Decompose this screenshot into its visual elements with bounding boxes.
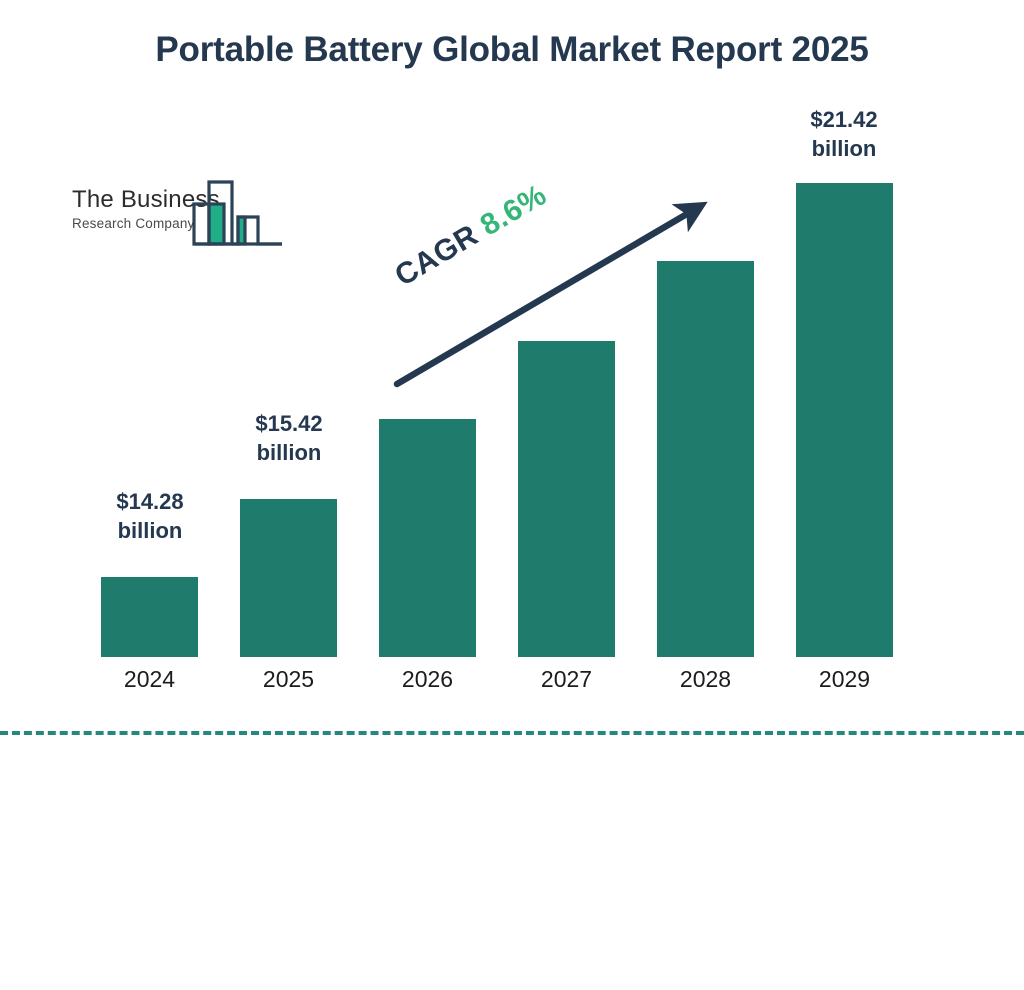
x-tick-label-2029: 2029 [796,668,893,691]
bar-value-label-2024: $14.28 billion [75,487,225,545]
bar-2024[interactable] [101,577,198,657]
x-tick-label-2026: 2026 [379,668,476,691]
bar-value-amount-2024: $14.28 [75,487,225,516]
bar-value-unit-2029: billion [769,134,919,163]
bottom-divider [0,731,1024,735]
bar-value-label-2025: $15.42 billion [214,409,364,467]
chart-canvas: Portable Battery Global Market Report 20… [0,0,1024,768]
bar-value-amount-2029: $21.42 [769,105,919,134]
bar-2026[interactable] [379,419,476,657]
bar-value-label-2029: $21.42 billion [769,105,919,163]
x-tick-label-2028: 2028 [657,668,754,691]
growth-trend-arrow-icon [380,185,720,400]
bar-value-unit-2024: billion [75,516,225,545]
x-tick-label-2025: 2025 [240,668,337,691]
bar-2025[interactable] [240,499,337,657]
bar-2029[interactable] [796,183,893,657]
bar-value-amount-2025: $15.42 [214,409,364,438]
x-tick-label-2027: 2027 [518,668,615,691]
bar-value-unit-2025: billion [214,438,364,467]
x-tick-label-2024: 2024 [101,668,198,691]
y-axis-title: Market Size (in USD billion) [1018,660,1024,990]
